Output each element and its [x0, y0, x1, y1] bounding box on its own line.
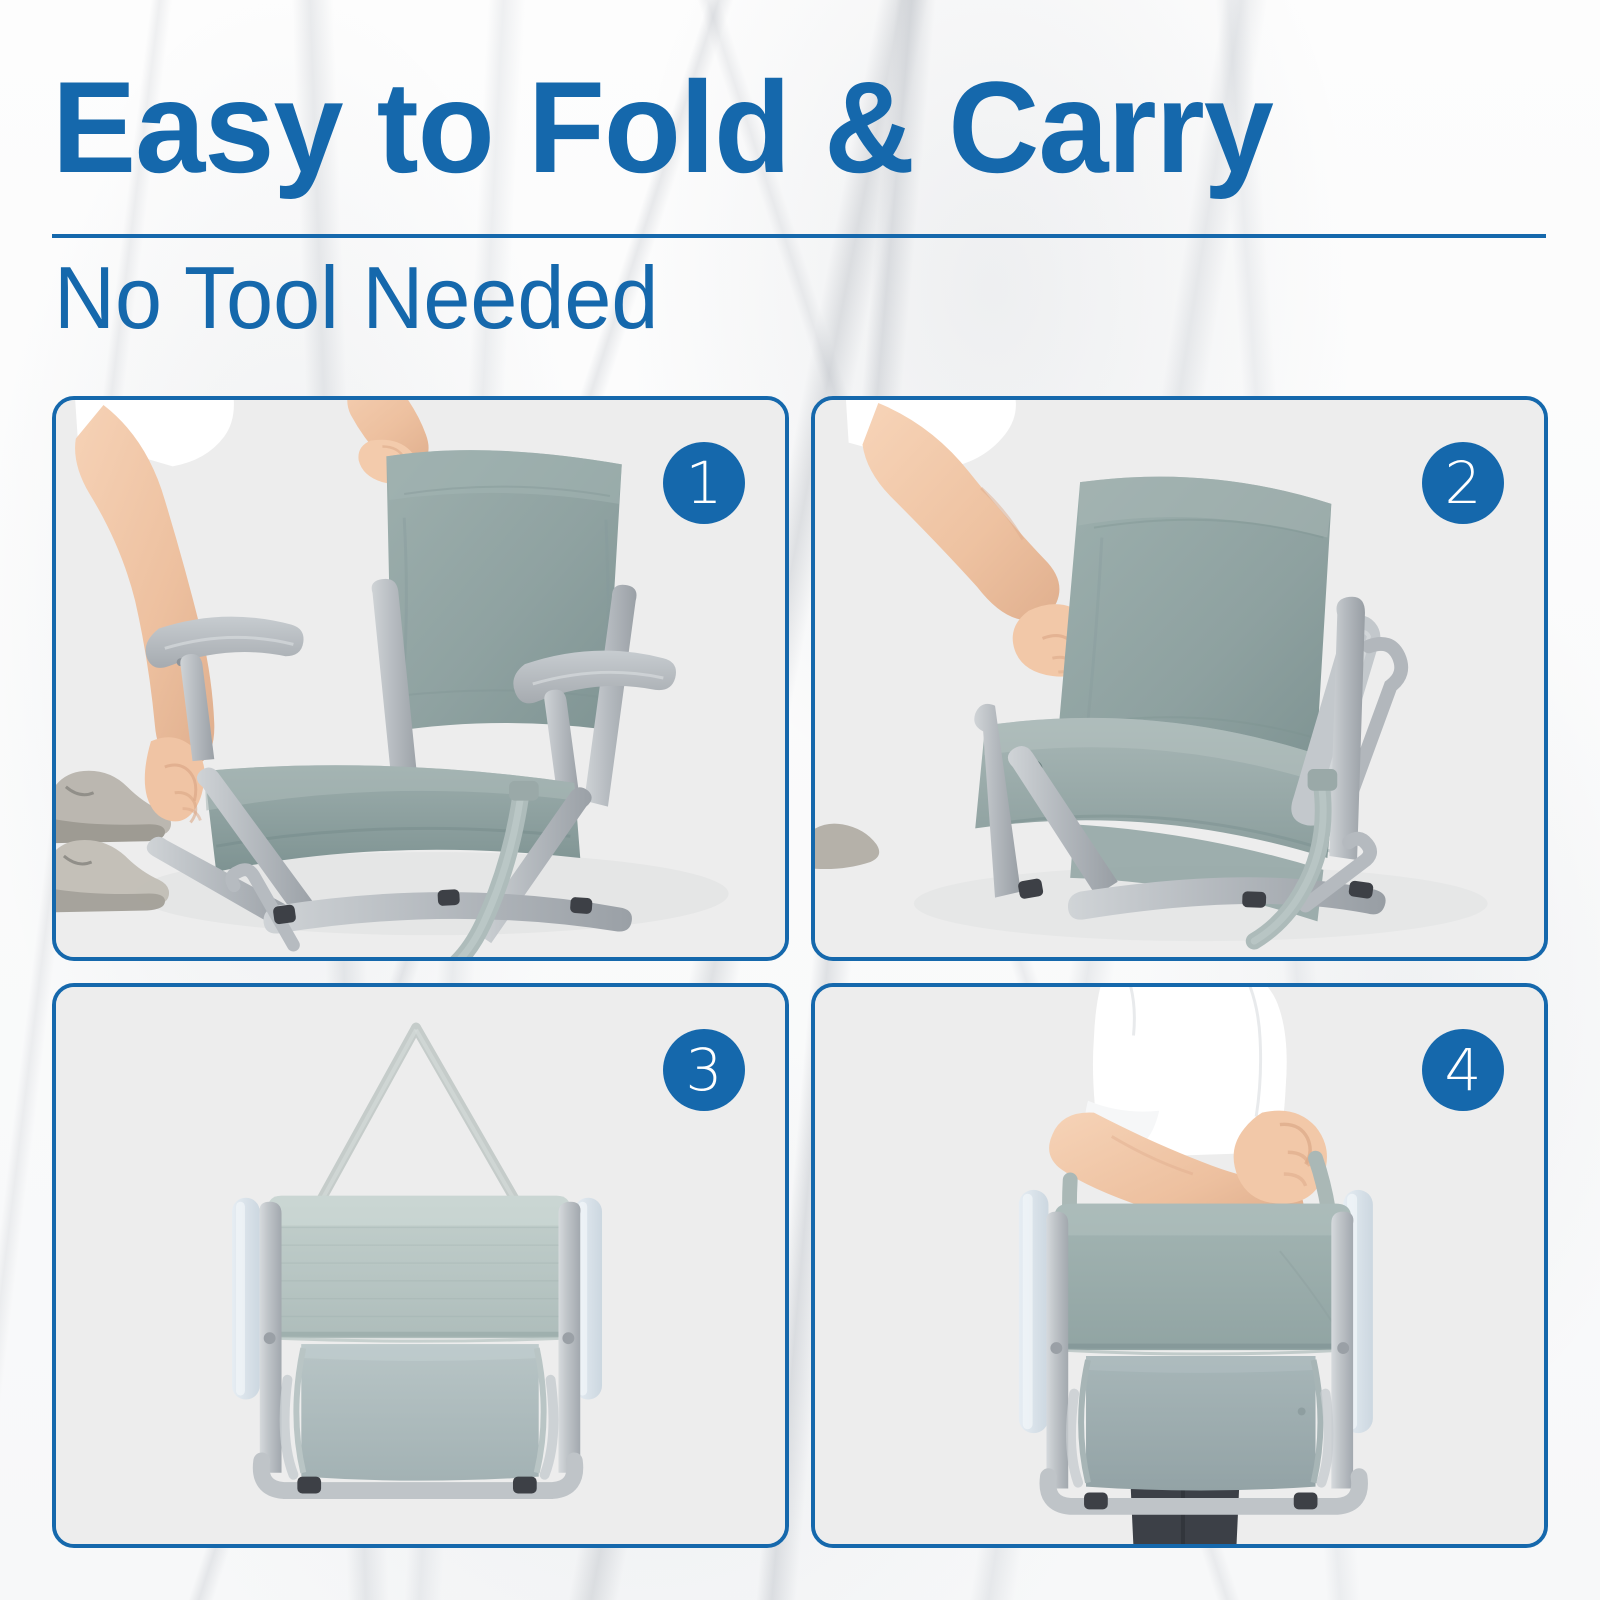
- chair-backrest: [386, 450, 621, 731]
- step-badge-1: 1: [663, 442, 745, 524]
- step-badge-3: 3: [663, 1029, 745, 1111]
- folded-seat-fabric: [296, 1344, 543, 1481]
- folded-chair-lower: [1081, 1356, 1320, 1491]
- folded-chair-upper: [1054, 1204, 1351, 1354]
- step-badge-2: 2: [1422, 442, 1504, 524]
- steps-grid: 1: [52, 396, 1548, 1548]
- step-panel-4: 4: [811, 983, 1548, 1548]
- page-title: Easy to Fold & Carry: [52, 62, 1273, 192]
- page-subtitle: No Tool Needed: [54, 252, 658, 344]
- step-panel-2: 2: [811, 396, 1548, 961]
- step-badge-4: 4: [1422, 1029, 1504, 1111]
- step-panel-3: 3: [52, 983, 789, 1548]
- title-divider: [52, 234, 1546, 238]
- header: Easy to Fold & Carry No Tool Needed: [0, 0, 1600, 390]
- step-panel-1: 1: [52, 396, 789, 961]
- folded-backrest-fabric: [268, 1196, 571, 1341]
